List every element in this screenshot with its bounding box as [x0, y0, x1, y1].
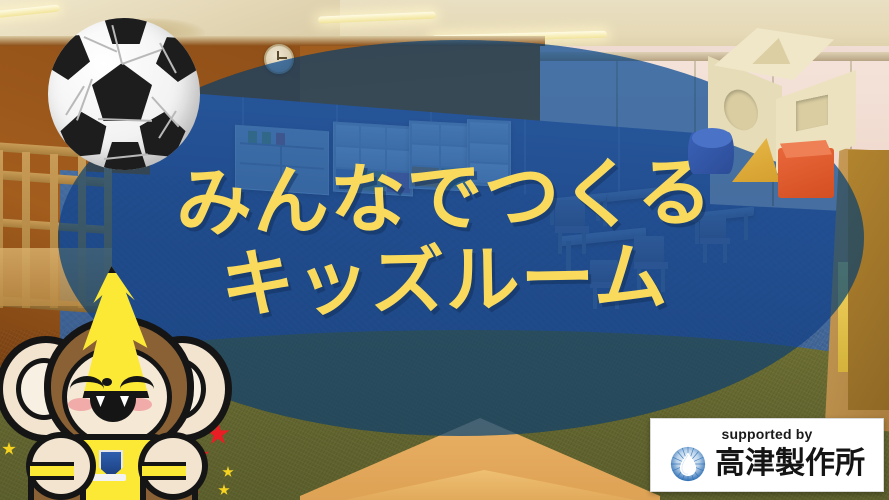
monkey-mascot [0, 272, 222, 500]
shape-sorter-cube-icon [700, 28, 868, 178]
mascot-crest-band [92, 474, 126, 481]
mascot-nose [102, 378, 112, 386]
sponsor-logo: supported by [650, 418, 884, 492]
sponsor-company-name: 高津製作所 [715, 449, 865, 479]
water-drop-icon [669, 445, 707, 483]
supported-by-label: supported by [721, 427, 812, 441]
banner-root: みんなでつくる キッズルーム [0, 0, 889, 500]
mascot-cuff-right [142, 462, 186, 480]
soccer-ball-icon [48, 18, 200, 170]
mascot-cuff-left [30, 462, 74, 480]
cylinder-block-top [692, 128, 732, 148]
